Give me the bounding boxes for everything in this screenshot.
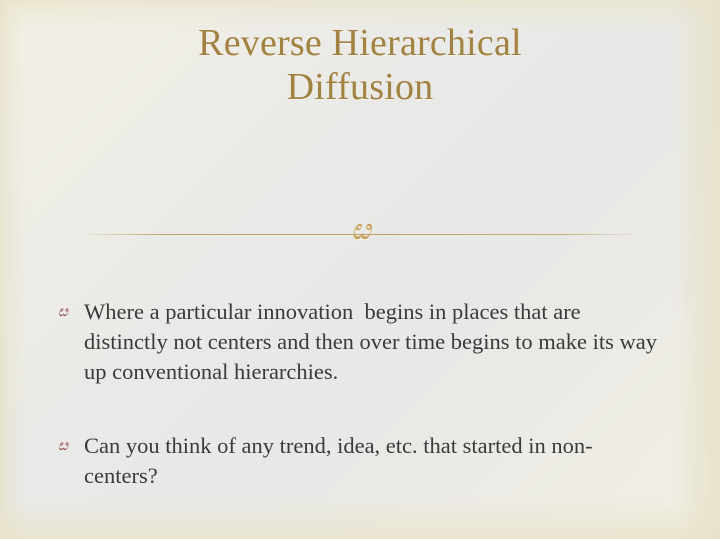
presentation-slide: Reverse Hierarchical Diffusion ೞ ೞ Where… [0, 0, 720, 539]
slide-body: ೞ Where a particular innovation begins i… [58, 297, 662, 491]
bullet-item: ೞ Where a particular innovation begins i… [58, 297, 662, 387]
slide-title-line-2: Diffusion [60, 66, 660, 110]
cb-flourish-ornament-icon: ೞ [345, 213, 375, 247]
bullet-item-text: Can you think of any trend, idea, etc. t… [84, 431, 662, 491]
title-divider: ೞ [0, 217, 720, 251]
slide-title-line-1: Reverse Hierarchical [60, 22, 660, 66]
bullet-item: ೞ Can you think of any trend, idea, etc.… [58, 431, 662, 491]
cb-flourish-bullet-icon: ೞ [58, 297, 84, 327]
bullet-item-text: Where a particular innovation begins in … [84, 297, 662, 387]
cb-flourish-bullet-icon: ೞ [58, 431, 84, 461]
slide-title: Reverse Hierarchical Diffusion [60, 22, 660, 109]
